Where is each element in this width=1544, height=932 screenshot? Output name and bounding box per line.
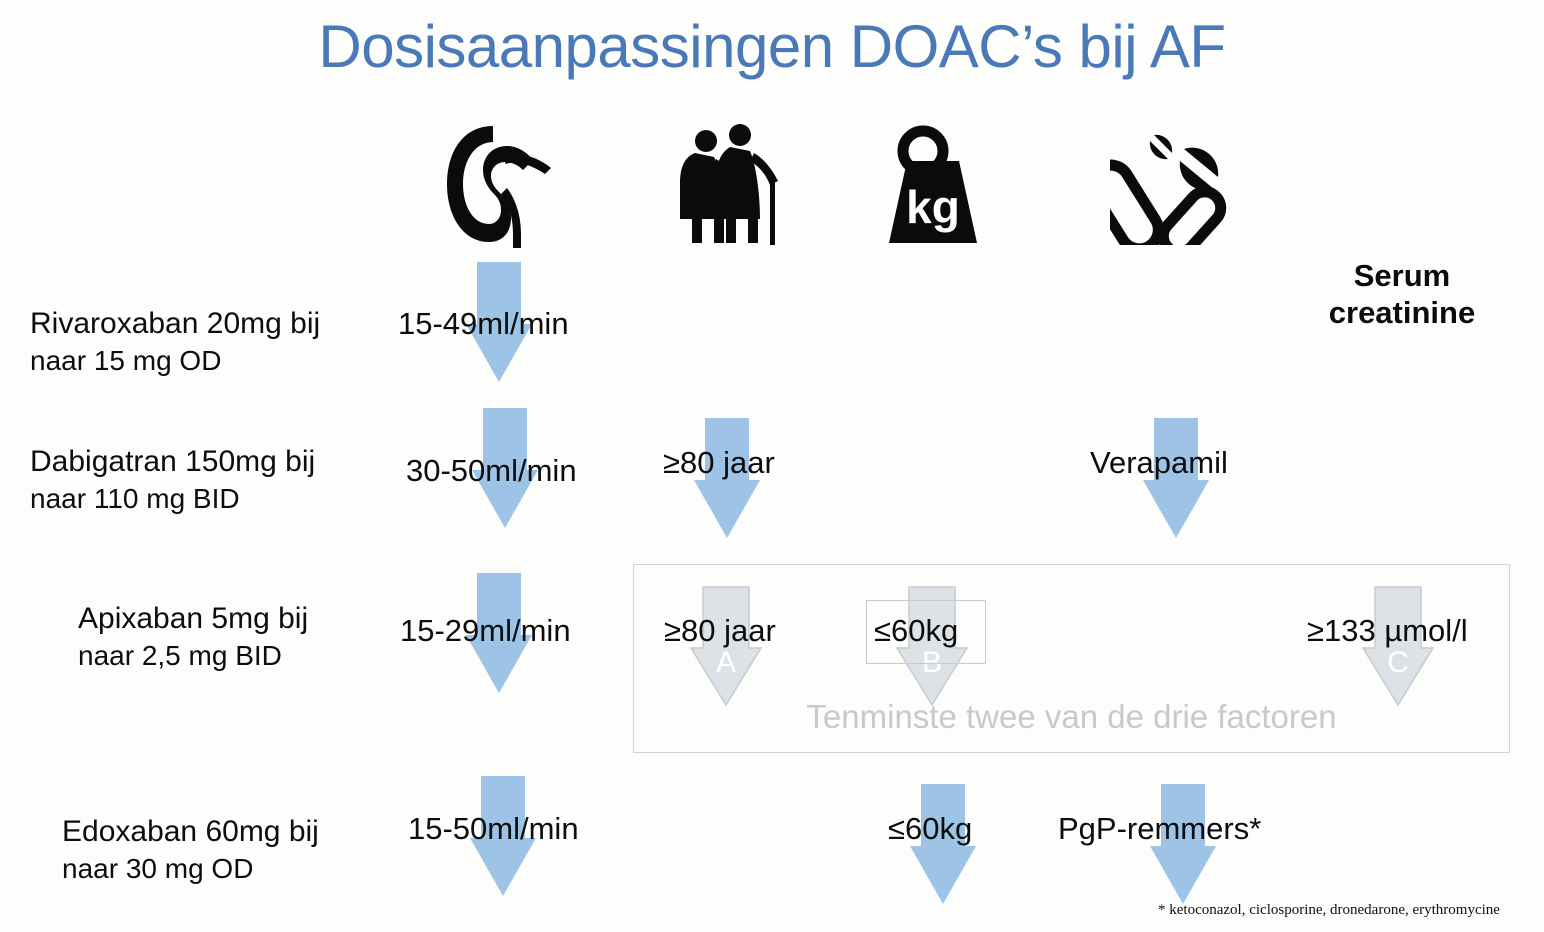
drug-label-rivaroxaban: Rivaroxaban 20mg bij naar 15 mg OD [30, 305, 430, 379]
criterion-age-apixaban: ≥80 jaar [664, 615, 776, 646]
elderly-couple-icon [660, 120, 800, 250]
factor-letter-a: A [690, 646, 762, 680]
criterion-creatinine-apixaban: ≥133 µmol/l [1307, 615, 1468, 646]
drug-name-line1: Edoxaban 60mg bij [62, 813, 462, 851]
criterion-weight-apixaban: ≤60kg [874, 615, 958, 646]
drug-name-line1: Dabigatran 150mg bij [30, 443, 430, 481]
criterion-renal-edoxaban: 15-50ml/min [408, 813, 579, 844]
icon-header-row: kg Serum creatinine [0, 120, 1544, 250]
drug-name-line2: naar 110 mg BID [30, 481, 430, 517]
criterion-interaction-dabigatran: Verapamil [1090, 447, 1228, 478]
serum-creatinine-line2: creatinine [1329, 295, 1475, 330]
drug-name-line2: naar 30 mg OD [62, 851, 462, 887]
criterion-interaction-edoxaban: PgP-remmers* [1058, 813, 1261, 844]
drug-label-dabigatran: Dabigatran 150mg bij naar 110 mg BID [30, 443, 430, 517]
weight-kg-icon: kg [865, 120, 1005, 250]
footnote: * ketoconazol, ciclosporine, dronedarone… [1158, 902, 1500, 919]
criterion-renal-rivaroxaban: 15-49ml/min [398, 308, 569, 339]
serum-creatinine-line1: Serum [1354, 258, 1450, 293]
factor-box-note: Tenminste twee van de drie factoren [633, 698, 1510, 736]
page-title: Dosisaanpassingen DOAC’s bij AF [0, 12, 1544, 81]
criterion-renal-apixaban: 15-29ml/min [400, 615, 571, 646]
kidney-icon [430, 120, 570, 250]
drug-name-line2: naar 15 mg OD [30, 343, 430, 379]
criterion-age-dabigatran: ≥80 jaar [663, 447, 775, 478]
criterion-renal-dabigatran: 30-50ml/min [406, 455, 577, 486]
slide-canvas: Dosisaanpassingen DOAC’s bij AF [0, 0, 1544, 932]
factor-letter-c: C [1362, 646, 1434, 680]
drug-label-edoxaban: Edoxaban 60mg bij naar 30 mg OD [62, 813, 462, 887]
pills-icon [1105, 120, 1255, 250]
weight-icon-label: kg [906, 181, 960, 233]
serum-creatinine-header: Serum creatinine [1272, 258, 1532, 331]
drug-name-line1: Rivaroxaban 20mg bij [30, 305, 430, 343]
criterion-weight-edoxaban: ≤60kg [888, 813, 972, 844]
